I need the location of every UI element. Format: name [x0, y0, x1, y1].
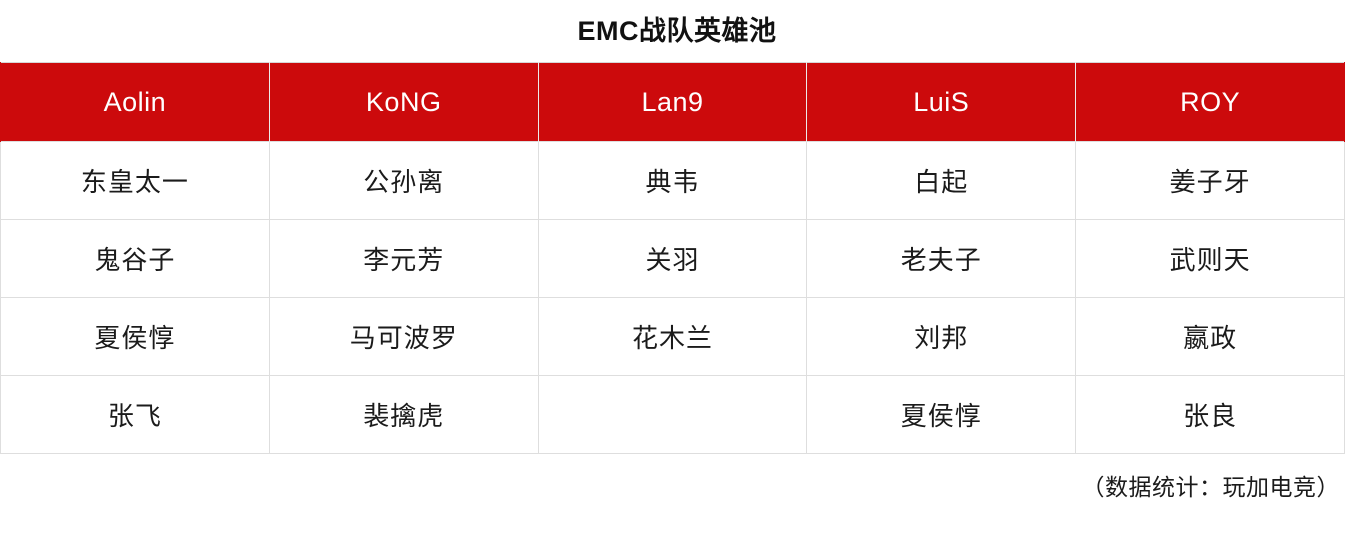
column-header-aolin[interactable]: Aolin [1, 63, 270, 142]
page-title: EMC战队英雄池 [0, 0, 1354, 62]
table-row: 东皇太一 公孙离 典韦 白起 姜子牙 [1, 142, 1345, 220]
table-cell: 典韦 [538, 142, 807, 220]
table-row: 张飞 裴擒虎 夏侯惇 张良 [1, 376, 1345, 454]
table-cell: 刘邦 [807, 298, 1076, 376]
table-cell: 老夫子 [807, 220, 1076, 298]
hero-pool-table: Aolin KoNG Lan9 LuiS ROY 东皇太一 公孙离 典韦 白起 … [0, 62, 1345, 454]
table-body: 东皇太一 公孙离 典韦 白起 姜子牙 鬼谷子 李元芳 关羽 老夫子 武则天 夏侯… [1, 142, 1345, 454]
table-cell: 夏侯惇 [807, 376, 1076, 454]
table-header: Aolin KoNG Lan9 LuiS ROY [1, 63, 1345, 142]
table-cell: 花木兰 [538, 298, 807, 376]
table-cell: 张飞 [1, 376, 270, 454]
table-cell: 嬴政 [1076, 298, 1345, 376]
table-cell: 夏侯惇 [1, 298, 270, 376]
table-cell: 鬼谷子 [1, 220, 270, 298]
table-header-row: Aolin KoNG Lan9 LuiS ROY [1, 63, 1345, 142]
table-cell: 东皇太一 [1, 142, 270, 220]
column-header-luis[interactable]: LuiS [807, 63, 1076, 142]
table-cell-empty [538, 376, 807, 454]
table-row: 夏侯惇 马可波罗 花木兰 刘邦 嬴政 [1, 298, 1345, 376]
table-cell: 姜子牙 [1076, 142, 1345, 220]
table-row: 鬼谷子 李元芳 关羽 老夫子 武则天 [1, 220, 1345, 298]
table-cell: 关羽 [538, 220, 807, 298]
column-header-lan9[interactable]: Lan9 [538, 63, 807, 142]
table-cell: 李元芳 [269, 220, 538, 298]
table-container: Aolin KoNG Lan9 LuiS ROY 东皇太一 公孙离 典韦 白起 … [0, 62, 1354, 454]
source-note: （数据统计：玩加电竞） [0, 454, 1354, 502]
table-cell: 公孙离 [269, 142, 538, 220]
table-cell: 裴擒虎 [269, 376, 538, 454]
page-root: EMC战队英雄池 Aolin KoNG Lan9 LuiS ROY 东皇太一 公… [0, 0, 1354, 540]
column-header-roy[interactable]: ROY [1076, 63, 1345, 142]
table-cell: 张良 [1076, 376, 1345, 454]
column-header-kong[interactable]: KoNG [269, 63, 538, 142]
table-cell: 白起 [807, 142, 1076, 220]
table-cell: 武则天 [1076, 220, 1345, 298]
table-cell: 马可波罗 [269, 298, 538, 376]
